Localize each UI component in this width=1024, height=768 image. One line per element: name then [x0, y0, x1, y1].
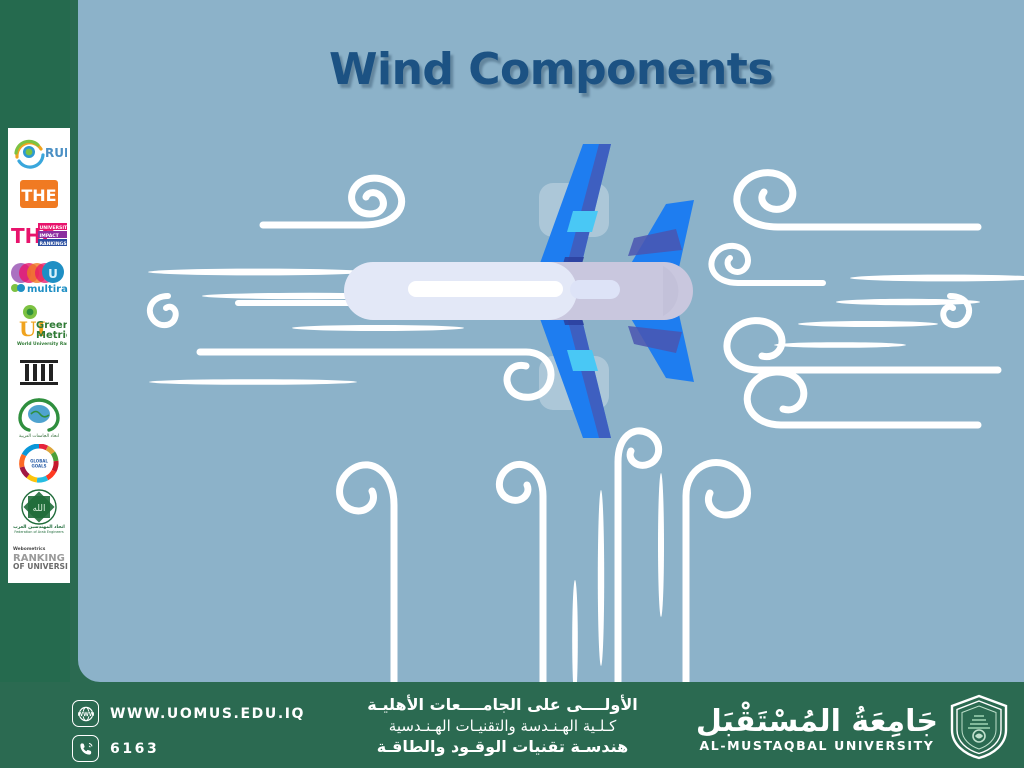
- svg-text:Metric: Metric: [36, 330, 67, 341]
- footer-arabic-block: الأولــــى على الجامــــعات الأهليـة كـل…: [330, 694, 675, 757]
- svg-text:UNIVERSITY: UNIVERSITY: [40, 225, 69, 231]
- accreditation-logo-card: RUR THE THE UNIVERSITY IMPACT RANKINGS: [8, 128, 70, 583]
- svg-text:الله: الله: [32, 504, 45, 514]
- webometrics-ranking-web-logo: Webometrics RANKING WEB OF UNIVERSITIES: [10, 536, 68, 576]
- svg-text:World University Rankings: World University Rankings: [17, 341, 67, 347]
- phone-row[interactable]: 6163: [72, 735, 305, 762]
- university-name-arabic: جَامِعَةُ المُسْتَقْبَل: [696, 706, 938, 738]
- the-times-higher-education-logo: THE: [10, 172, 68, 215]
- svg-text:Webometrics: Webometrics: [13, 546, 46, 552]
- website-label: WWW.UOMUS.EDU.IQ: [110, 706, 305, 722]
- airplane-with-wind-swirls-illustration: .w { fill:none; stroke:#ffffff; stroke-l…: [78, 0, 1024, 682]
- svg-text:U: U: [48, 267, 58, 281]
- phone-label: 6163: [110, 741, 159, 757]
- university-shield-logo: [948, 694, 1010, 765]
- phone-icon: [72, 735, 99, 762]
- svg-text:RANKINGS: RANKINGS: [40, 241, 67, 247]
- presentation-slide: RUR THE THE UNIVERSITY IMPACT RANKINGS: [0, 0, 1024, 768]
- university-brand-block: جَامِعَةُ المُسْتَقْبَل AL-MUSTAQBAL UNI…: [696, 694, 1010, 765]
- slide-content-panel: Wind Components .w { fill:none; stroke:#…: [78, 0, 1024, 682]
- classical-columns-logo: [10, 351, 68, 393]
- svg-text:RUR: RUR: [45, 146, 67, 160]
- footer-arabic-line-2: كـلـية الهـنـدسة والتقنيـات الهـنـدسية: [330, 716, 675, 736]
- svg-text:GOALS: GOALS: [31, 463, 46, 468]
- globe-icon: WWW: [72, 700, 99, 727]
- svg-text:OF UNIVERSITIES: OF UNIVERSITIES: [13, 562, 68, 571]
- svg-text:WWW: WWW: [78, 711, 94, 717]
- footer-arabic-line-3: هندسـة تقنيات الوقـود والطاقـة: [330, 736, 675, 758]
- svg-text:multirank: multirank: [27, 284, 68, 295]
- ui-greenmetric-logo: UI Green Metric World University Ranking…: [10, 299, 68, 351]
- footer-arabic-line-1: الأولــــى على الجامــــعات الأهليـة: [330, 694, 675, 716]
- website-row[interactable]: WWW WWW.UOMUS.EDU.IQ: [72, 700, 305, 727]
- footer-contact-block: WWW WWW.UOMUS.EDU.IQ 6163: [72, 700, 305, 762]
- svg-text:اتحاد الجامعات العربية: اتحاد الجامعات العربية: [19, 434, 59, 438]
- sdg-global-goals-logo: GLOBAL GOALS: [10, 441, 68, 486]
- university-name-text: جَامِعَةُ المُسْتَقْبَل AL-MUSTAQBAL UNI…: [696, 706, 938, 754]
- svg-text:Federation of Arab Engineers: Federation of Arab Engineers: [14, 530, 64, 534]
- svg-text:THE: THE: [21, 186, 56, 205]
- federation-of-arab-engineers-logo: الله اتحاد المهندسين العرب Federation of…: [10, 486, 68, 536]
- u-multirank-logo: U multirank: [10, 255, 68, 299]
- university-name-english: AL-MUSTAQBAL UNIVERSITY: [696, 738, 938, 753]
- rur-ranking-logo: RUR: [10, 132, 68, 172]
- the-university-impact-rankings-logo: THE UNIVERSITY IMPACT RANKINGS: [10, 215, 68, 255]
- arab-universities-union-logo: اتحاد الجامعات العربية: [10, 393, 68, 441]
- svg-text:IMPACT: IMPACT: [40, 233, 60, 239]
